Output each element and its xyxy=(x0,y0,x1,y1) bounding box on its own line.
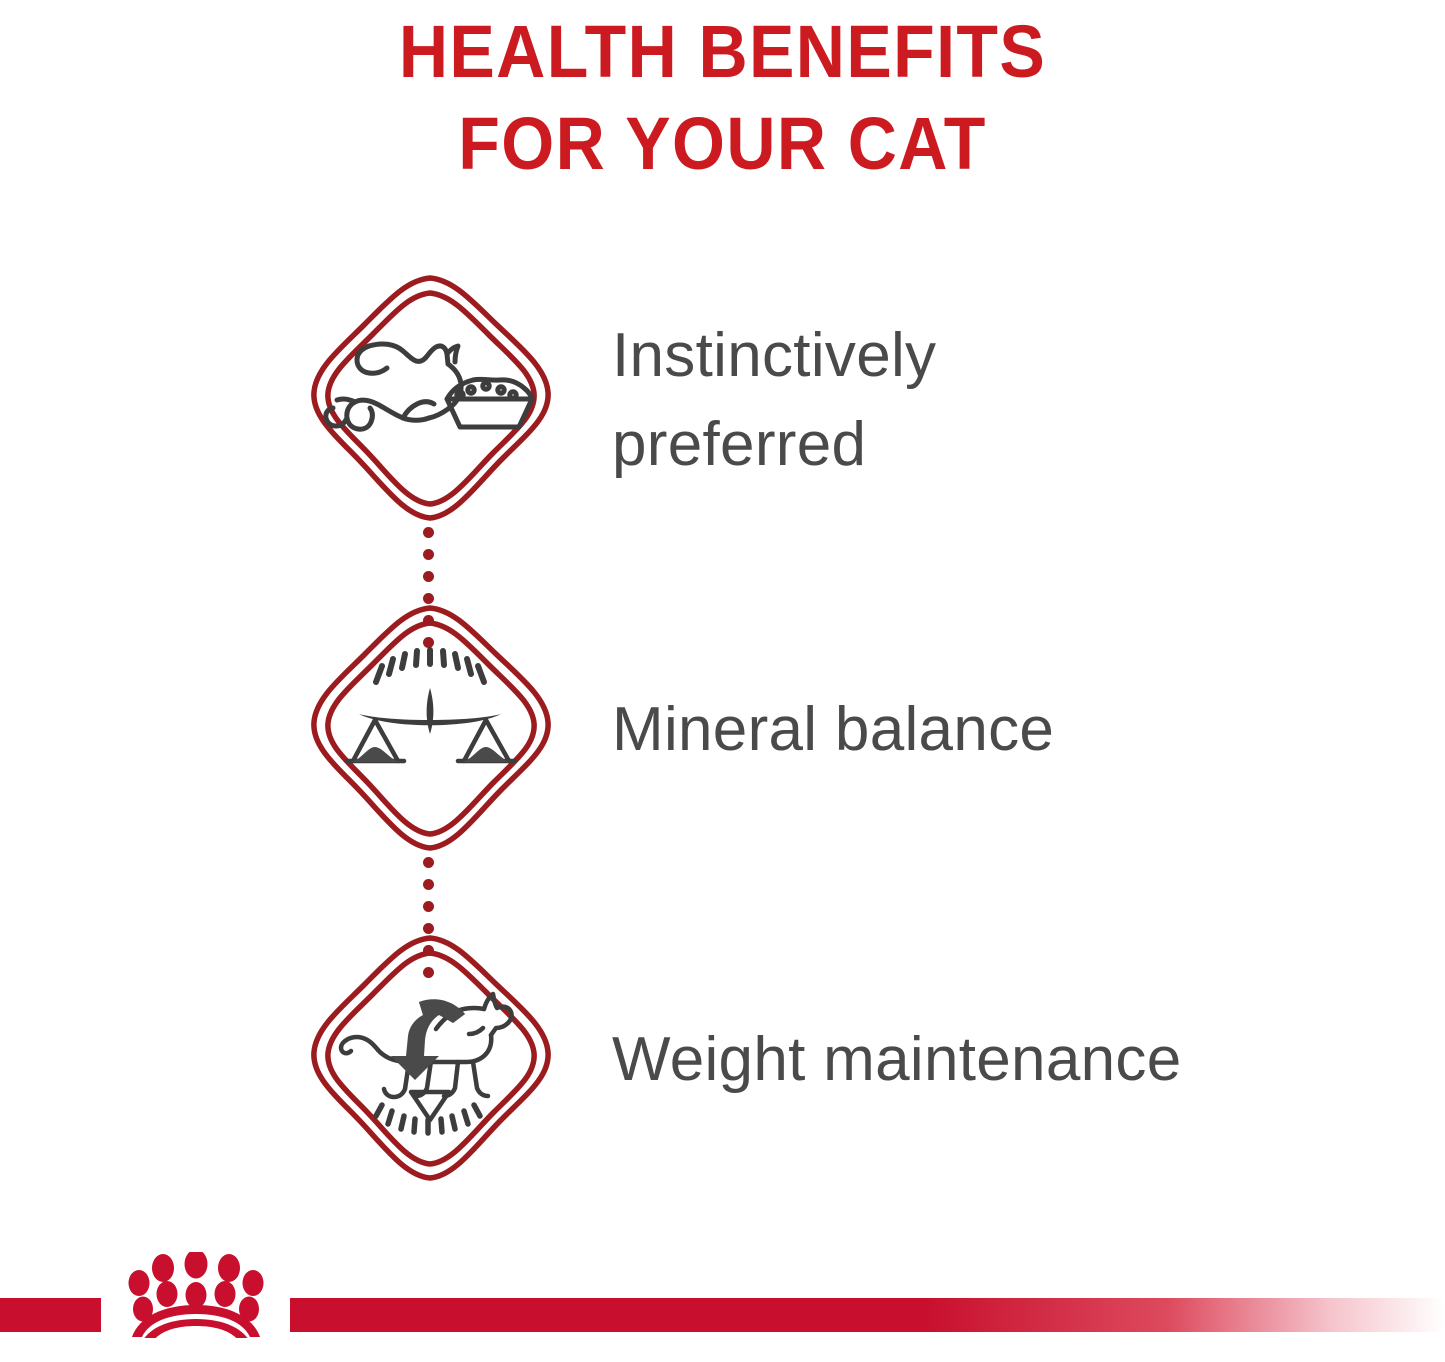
benefit-row: Weight maintenance xyxy=(0,928,1445,1258)
brand-bar-left-segment xyxy=(0,1298,101,1332)
connector-dot xyxy=(423,857,434,868)
benefit-label-text: Mineral balance xyxy=(612,686,1054,774)
cat-weight-scale-icon xyxy=(303,928,558,1193)
connector-dot xyxy=(423,901,434,912)
benefit-label-text: Instinctively preferred xyxy=(612,312,1082,488)
page-title-line-2: FOR YOUR CAT xyxy=(58,98,1387,190)
benefit-label-text: Weight maintenance xyxy=(612,1016,1182,1104)
benefit-label: Weight maintenance xyxy=(612,928,1412,1193)
connector-dot xyxy=(423,571,434,582)
benefit-label: Instinctively preferred xyxy=(612,268,1082,533)
connector-dot xyxy=(423,879,434,890)
benefit-row: Instinctively preferred xyxy=(0,268,1445,598)
health-benefits-panel: HEALTH BENEFITS FOR YOUR CAT xyxy=(0,0,1445,1362)
benefits-list: Instinctively preferred xyxy=(0,268,1445,1258)
connector-dot xyxy=(423,549,434,560)
page-title: HEALTH BENEFITS FOR YOUR CAT xyxy=(0,6,1445,190)
benefit-label: Mineral balance xyxy=(612,598,1412,863)
benefit-row: Mineral balance xyxy=(0,598,1445,928)
connector-dot xyxy=(423,527,434,538)
cat-eating-from-bowl-icon xyxy=(303,268,558,533)
royal-canin-crown-paw-logo xyxy=(101,1252,291,1338)
brand-bar-right-segment xyxy=(290,1298,1445,1332)
page-title-line-1: HEALTH BENEFITS xyxy=(58,6,1387,98)
balance-scale-icon xyxy=(303,598,558,863)
brand-footer-bar xyxy=(0,1298,1445,1332)
